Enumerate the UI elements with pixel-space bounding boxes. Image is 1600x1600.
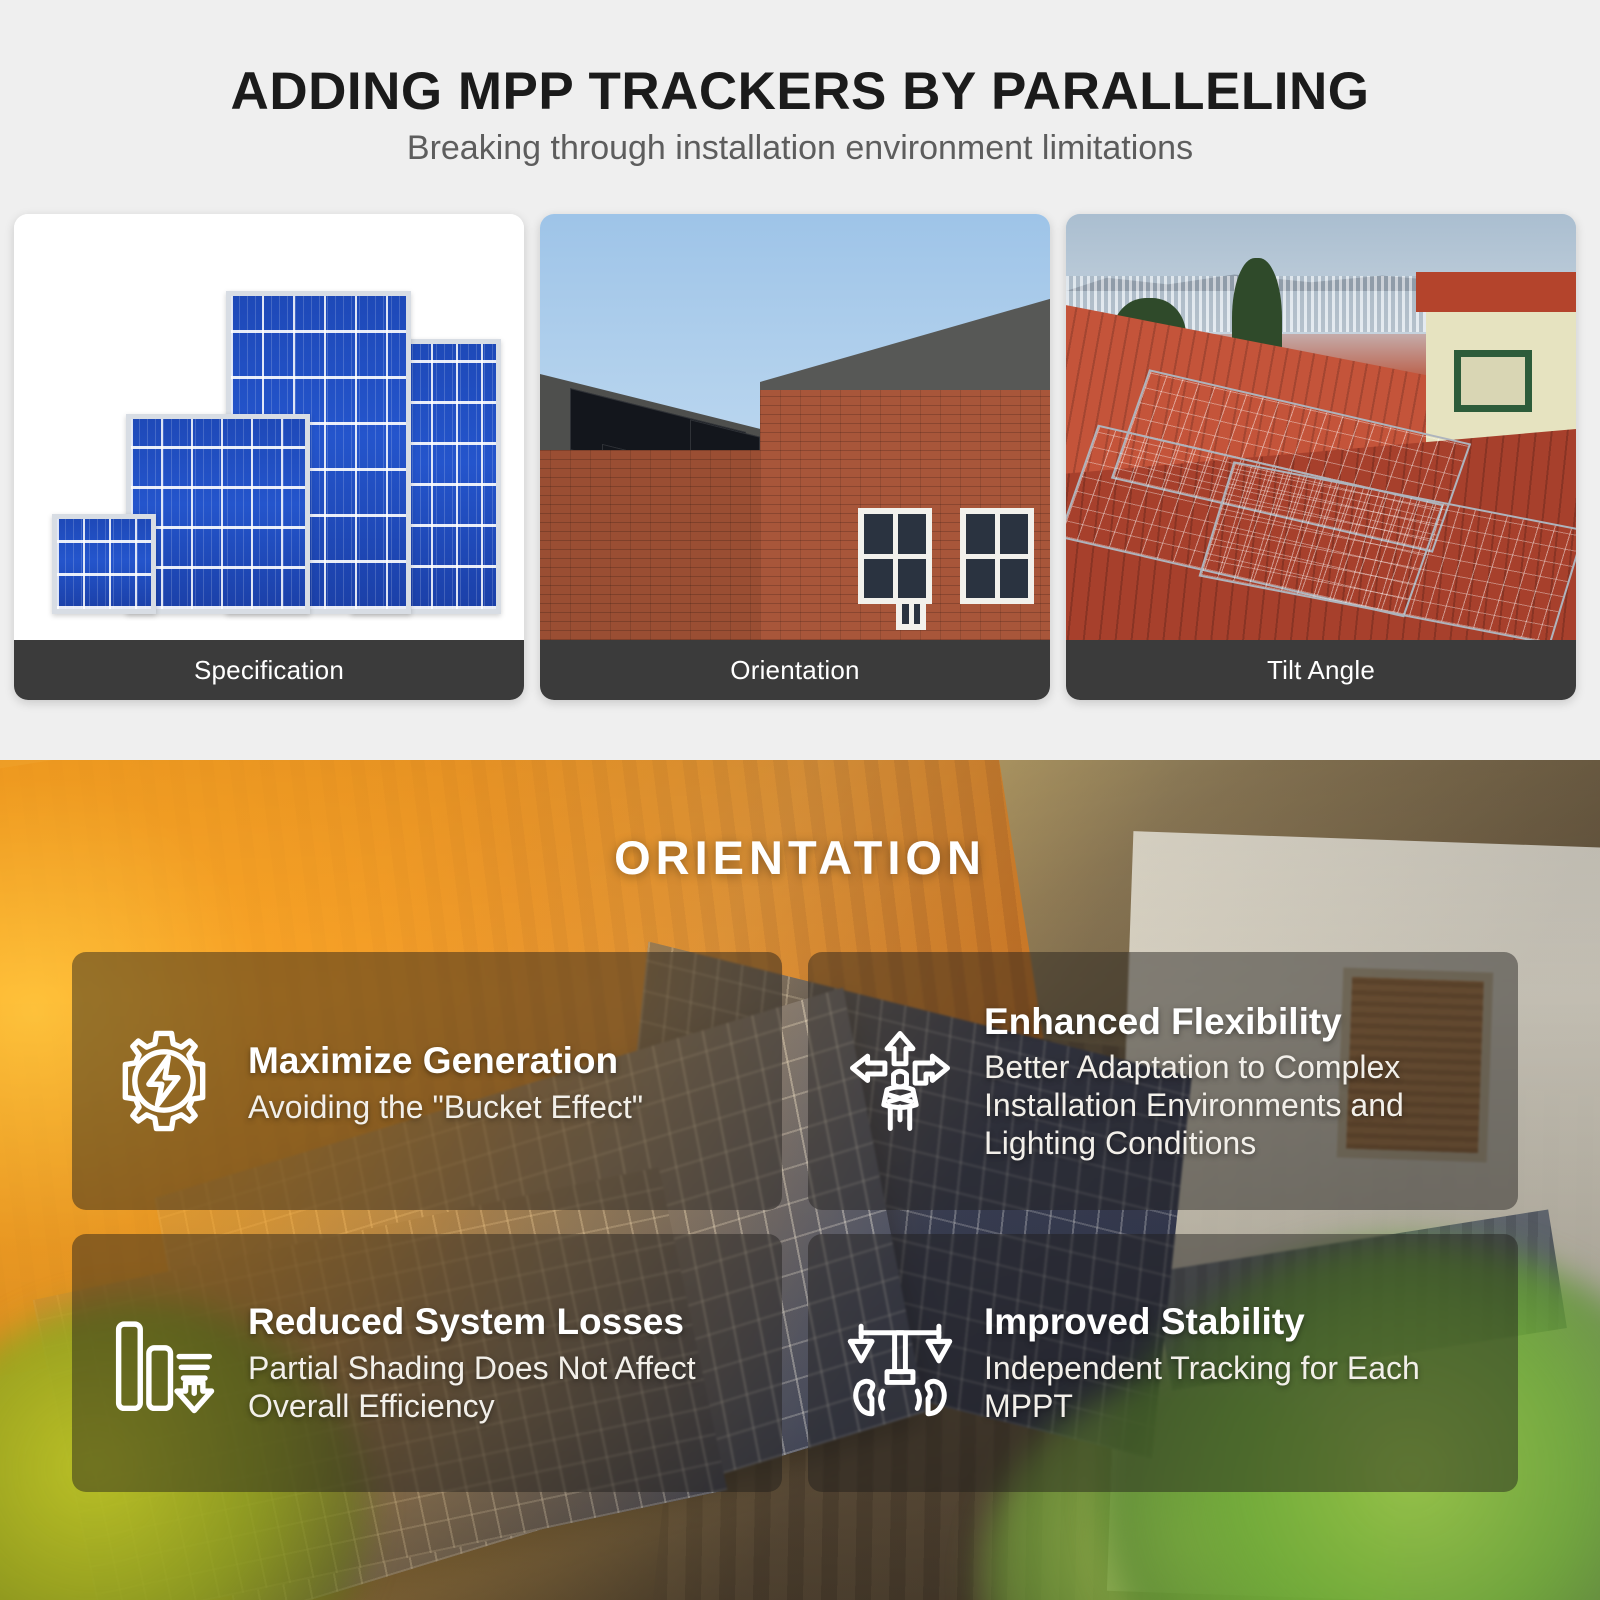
card-orientation-caption: Orientation: [540, 640, 1050, 700]
hero-section: ADDING MPP TRACKERS BY PARALLELING Break…: [0, 0, 1600, 760]
orientation-section: ORIENTATION Maximize Generation Avoiding…: [0, 760, 1600, 1600]
brick-house-roof-photo: [540, 214, 1050, 640]
feature-title-1: Enhanced Flexibility: [984, 1000, 1496, 1044]
descending-bars-down-arrow-icon: [106, 1305, 222, 1421]
balance-scale-hands-icon: [842, 1305, 958, 1421]
feature-title-3: Improved Stability: [984, 1300, 1496, 1344]
card-orientation[interactable]: Orientation: [540, 214, 1050, 700]
solar-panel-small: [52, 514, 156, 614]
feature-title-0: Maximize Generation: [248, 1039, 760, 1083]
feature-desc-3: Independent Tracking for Each MPPT: [984, 1350, 1496, 1426]
card-specification-image: [14, 214, 524, 640]
feature-enhanced-flexibility[interactable]: Enhanced Flexibility Better Adaptation t…: [808, 952, 1518, 1210]
cream-house-window: [1454, 350, 1532, 412]
feature-cards-row: Specification: [14, 214, 1586, 700]
feature-reduced-system-losses[interactable]: Reduced System Losses Partial Shading Do…: [72, 1234, 782, 1492]
feature-title-2: Reduced System Losses: [248, 1300, 760, 1344]
page-title: ADDING MPP TRACKERS BY PARALLELING: [0, 62, 1600, 123]
feature-text-0: Maximize Generation Avoiding the "Bucket…: [248, 1035, 760, 1126]
feature-maximize-generation[interactable]: Maximize Generation Avoiding the "Bucket…: [72, 952, 782, 1210]
tilted-solar-array-photo: [1066, 214, 1576, 640]
feature-text-2: Reduced System Losses Partial Shading Do…: [248, 1300, 760, 1425]
solar-panel-sizes-illustration: [14, 214, 524, 640]
card-specification-caption: Specification: [14, 640, 524, 700]
card-tilt-angle-image: [1066, 214, 1576, 640]
gear-lightning-icon: [106, 1023, 222, 1139]
feature-desc-0: Avoiding the "Bucket Effect": [248, 1089, 760, 1127]
person-multidirection-arrows-icon: [842, 1023, 958, 1139]
brick-wall-left: [540, 450, 760, 640]
card-tilt-angle-caption: Tilt Angle: [1066, 640, 1576, 700]
page-subtitle: Breaking through installation environmen…: [0, 128, 1600, 169]
feature-desc-1: Better Adaptation to Complex Installatio…: [984, 1049, 1496, 1162]
feature-grid: Maximize Generation Avoiding the "Bucket…: [72, 952, 1528, 1492]
card-specification[interactable]: Specification: [14, 214, 524, 700]
card-orientation-image: [540, 214, 1050, 640]
card-tilt-angle[interactable]: Tilt Angle: [1066, 214, 1576, 700]
section-heading: ORIENTATION: [0, 830, 1600, 885]
feature-text-3: Improved Stability Independent Tracking …: [984, 1300, 1496, 1425]
feature-text-1: Enhanced Flexibility Better Adaptation t…: [984, 1000, 1496, 1163]
window-right: [960, 508, 1034, 604]
window-left: [858, 508, 932, 604]
cream-house-roof: [1416, 272, 1576, 312]
feature-desc-2: Partial Shading Does Not Affect Overall …: [248, 1350, 760, 1426]
feature-improved-stability[interactable]: Improved Stability Independent Tracking …: [808, 1234, 1518, 1492]
